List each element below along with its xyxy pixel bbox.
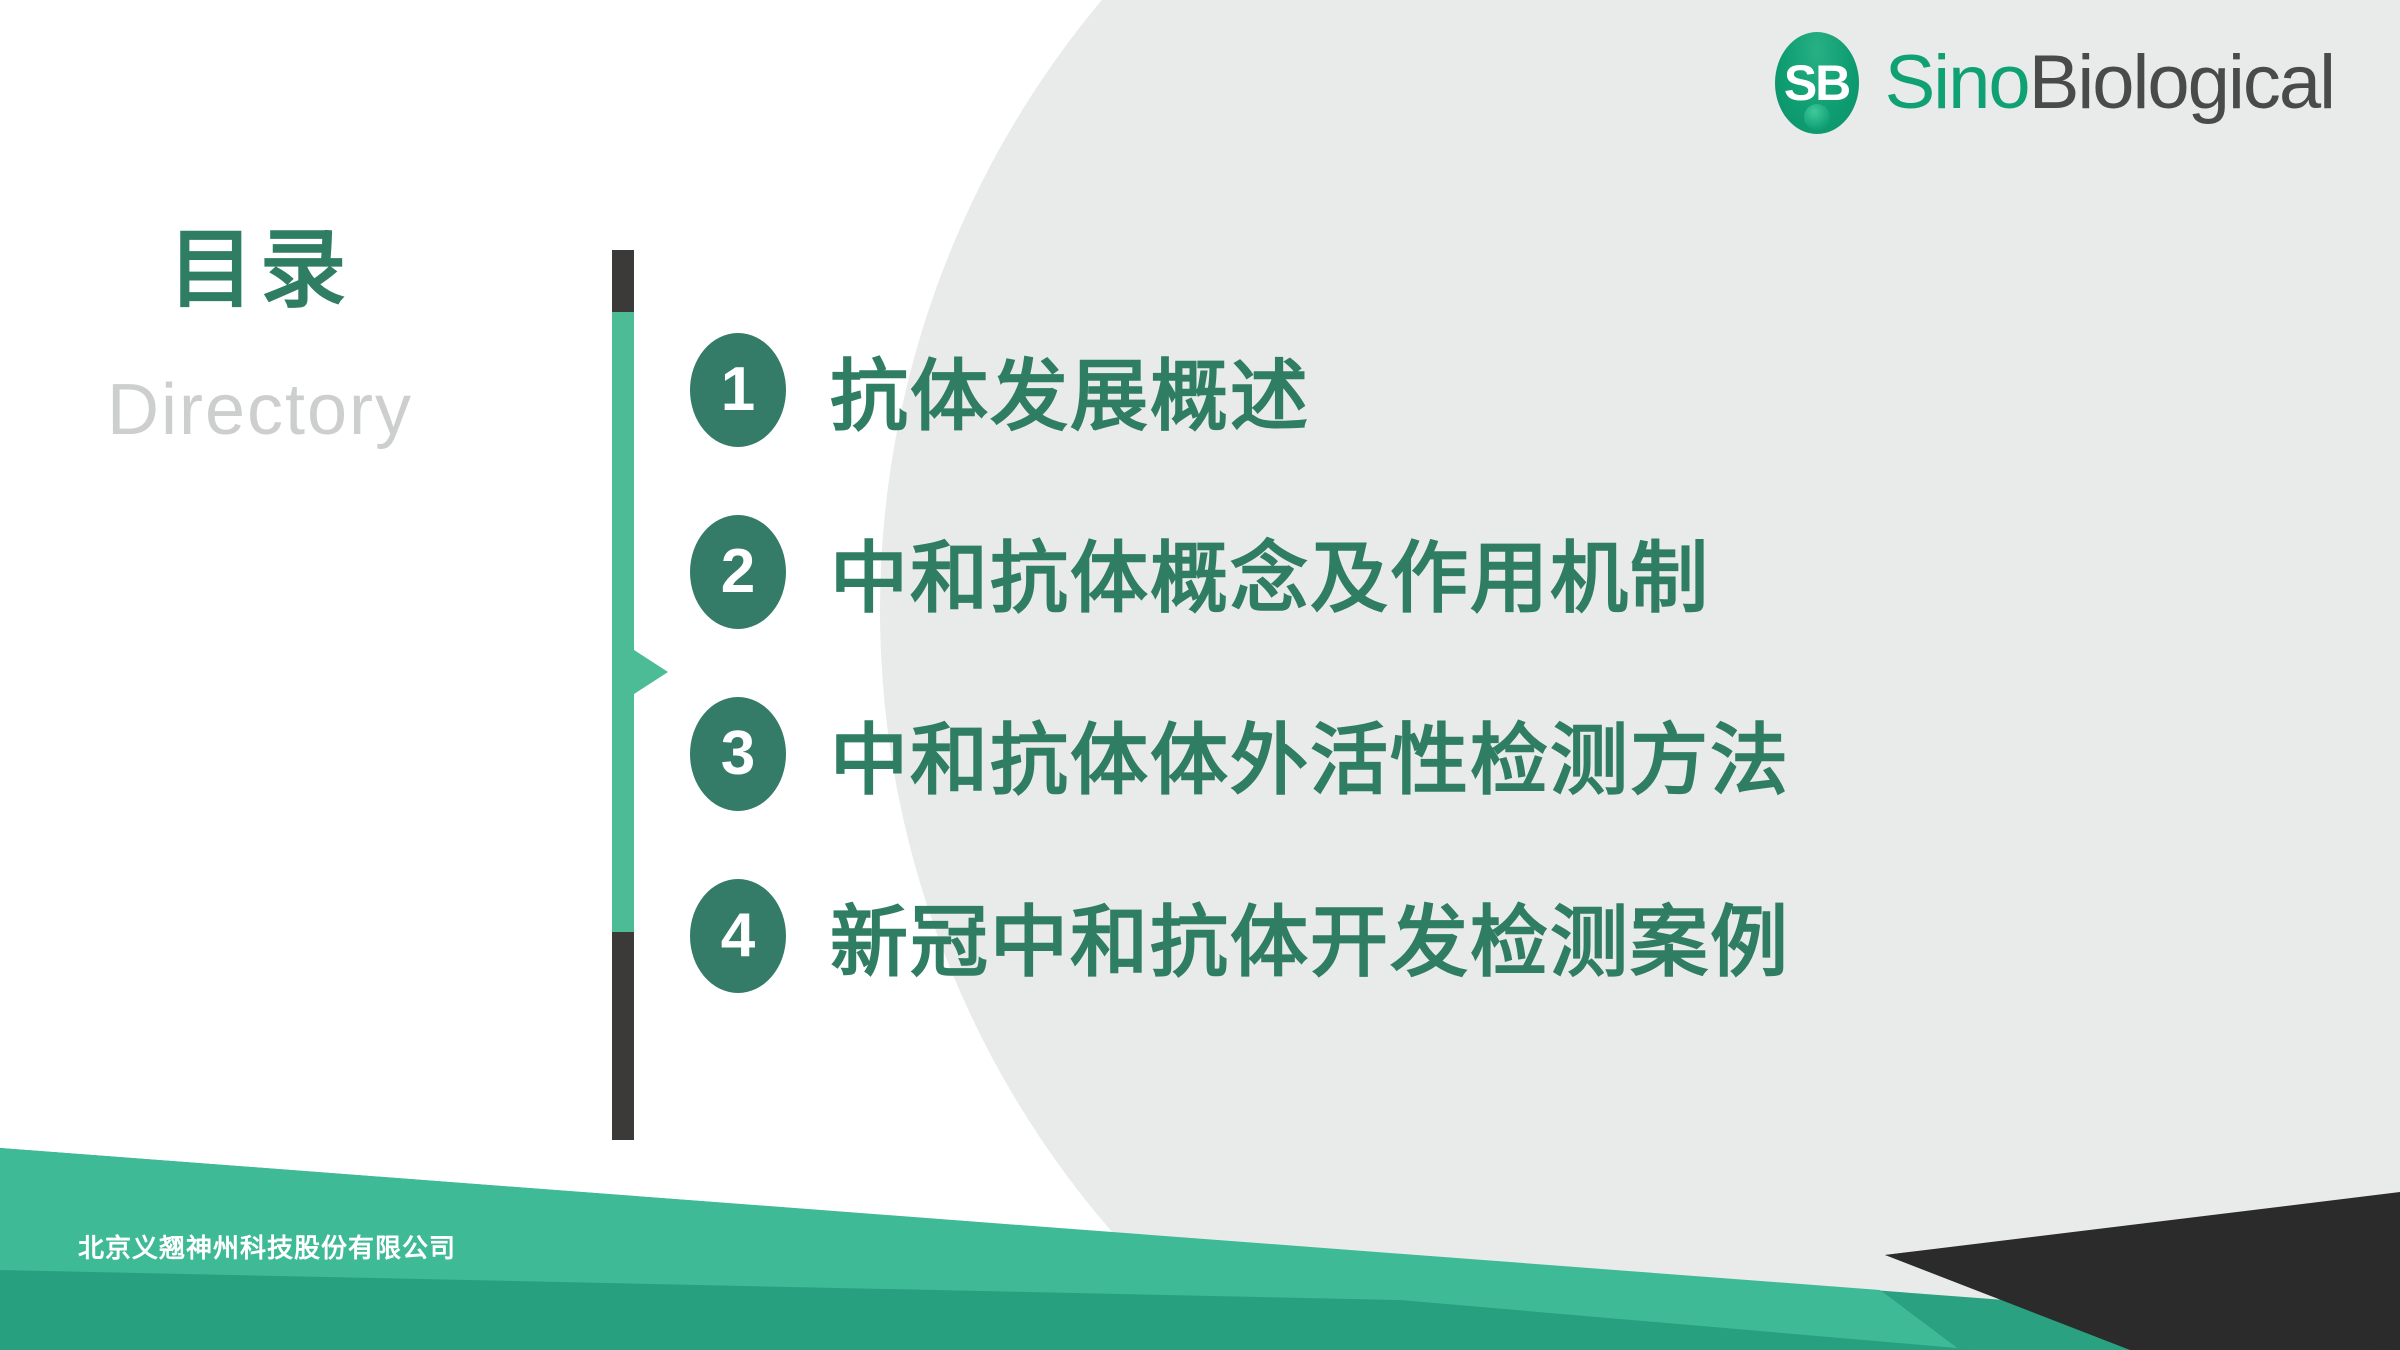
accent-bar-top-segment	[612, 250, 634, 312]
slide-title-block: 目录 Directory	[0, 225, 520, 454]
list-item[interactable]: 1 抗体发展概述	[690, 330, 2340, 450]
footer-company-name: 北京义翘神州科技股份有限公司	[78, 1228, 456, 1265]
presentation-slide: 目录 Directory 1 抗体发展概述 2 中和抗体概念及作用机制 3 中和…	[0, 0, 2400, 1350]
brand-logo: SB Sino Biological	[1775, 30, 2334, 135]
accent-bar-bottom-segment	[612, 932, 634, 1140]
directory-list: 1 抗体发展概述 2 中和抗体概念及作用机制 3 中和抗体体外活性检测方法 4 …	[690, 330, 2340, 1058]
list-item-number-badge: 1	[690, 333, 786, 447]
sb-monogram-icon: SB	[1775, 32, 1859, 134]
list-item-label: 新冠中和抗体开发检测案例	[830, 880, 1790, 992]
list-item[interactable]: 4 新冠中和抗体开发检测案例	[690, 876, 2340, 996]
page-title-english: Directory	[0, 367, 520, 453]
logo-dot-icon	[1804, 104, 1830, 130]
accent-bar-green-segment	[612, 312, 634, 932]
list-item-number-badge: 2	[690, 515, 786, 629]
list-item-label: 抗体发展概述	[830, 334, 1310, 446]
list-item-number-badge: 3	[690, 697, 786, 811]
logo-word-biological: Biological	[2029, 45, 2334, 121]
list-item-label: 中和抗体概念及作用机制	[830, 516, 1710, 628]
list-item[interactable]: 3 中和抗体体外活性检测方法	[690, 694, 2340, 814]
list-item-label: 中和抗体体外活性检测方法	[830, 698, 1790, 810]
right-arrow-marker-icon	[634, 650, 668, 694]
logo-word-sino: Sino	[1885, 45, 2029, 121]
list-item[interactable]: 2 中和抗体概念及作用机制	[690, 512, 2340, 632]
page-title-chinese: 目录	[0, 225, 520, 315]
list-item-number-badge: 4	[690, 879, 786, 993]
